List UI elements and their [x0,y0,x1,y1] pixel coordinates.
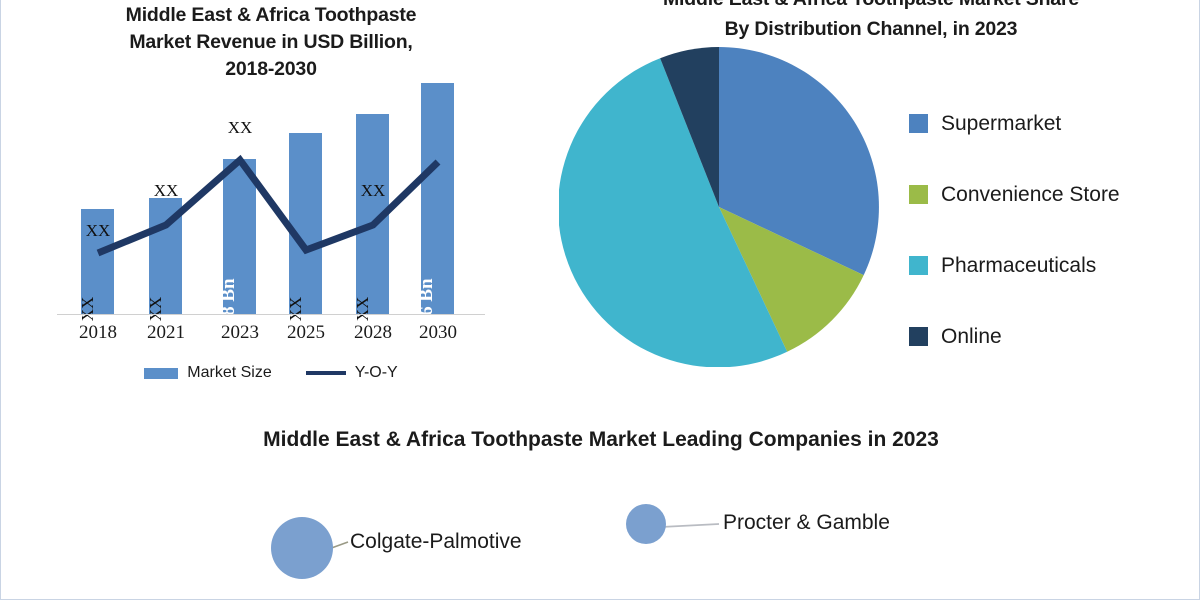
x-label-2028: 2028 [354,322,392,344]
bar-chart-title-line-2: Market Revenue in USD Billion, [41,29,501,56]
supermarket-swatch-icon [909,114,928,133]
bar-chart-x-axis-labels: 2018 2021 2023 2025 2028 2030 [61,322,481,352]
pie-chart-graphic [559,47,879,367]
companies-section-title: Middle East & Africa Toothpaste Market L… [1,428,1200,452]
yoy-label-2018: XX [86,221,111,241]
pie-legend-label-pharmaceuticals: Pharmaceuticals [941,254,1096,278]
pie-chart-panel: Middle East & Africa Toothpaste Market S… [541,0,1200,410]
pie-legend-item-convenience-store[interactable]: Convenience Store [909,159,1189,230]
yoy-polyline [98,160,438,253]
bar-chart-axis-line [57,314,485,315]
x-label-2030: 2030 [419,322,457,344]
yoy-label-2028: XX [361,181,386,201]
x-label-2023: 2023 [221,322,259,344]
yoy-label-2023: XX [228,118,253,138]
pharmaceuticals-swatch-icon [909,256,928,275]
company-bubble-colgate-palmotive[interactable] [271,517,333,579]
pie-chart-title-line-2: By Distribution Channel, in 2023 [561,14,1181,44]
pie-legend-label-supermarket: Supermarket [941,112,1061,136]
company-label-procter-gamble: Procter & Gamble [723,511,890,535]
online-swatch-icon [909,327,928,346]
legend-item-yoy[interactable]: Y-O-Y [306,364,398,382]
legend-item-market-size[interactable]: Market Size [144,364,271,382]
x-label-2018: 2018 [79,322,117,344]
infographic-page: Middle East & Africa Toothpaste Market R… [0,0,1200,600]
bar-chart-title-line-1: Middle East & Africa Toothpaste [41,2,501,29]
yoy-label-2021: XX [154,181,179,201]
legend-label-market-size: Market Size [187,364,271,382]
bar-chart-plot-area: XX XX 3.38 Bn XX XX 5.06 Bn XX X [61,60,481,315]
market-size-swatch-icon [144,368,178,379]
companies-bubble-chart: Colgate-Palmotive Procter & Gamble [1,470,1200,600]
pie-chart-legend: Supermarket Convenience Store Pharmaceut… [909,88,1189,372]
bar-chart-legend: Market Size Y-O-Y [61,364,481,382]
legend-label-yoy: Y-O-Y [355,364,398,382]
pie-legend-label-online: Online [941,325,1002,349]
company-leader-lines [1,470,1200,600]
convenience-store-swatch-icon [909,185,928,204]
company-bubble-procter-gamble[interactable] [626,504,666,544]
pie-chart-title-line-1: Middle East & Africa Toothpaste Market S… [561,0,1181,14]
pie-legend-item-online[interactable]: Online [909,301,1189,372]
x-label-2025: 2025 [287,322,325,344]
yoy-line-series [61,60,481,315]
pie-chart-title: Middle East & Africa Toothpaste Market S… [561,0,1181,44]
company-label-colgate-palmotive: Colgate-Palmotive [350,530,522,554]
x-label-2021: 2021 [147,322,185,344]
yoy-line-swatch-icon [306,371,346,375]
pie-legend-item-pharmaceuticals[interactable]: Pharmaceuticals [909,230,1189,301]
pie-legend-item-supermarket[interactable]: Supermarket [909,88,1189,159]
bar-chart-panel: Middle East & Africa Toothpaste Market R… [1,0,541,410]
pie-legend-label-convenience-store: Convenience Store [941,183,1120,207]
